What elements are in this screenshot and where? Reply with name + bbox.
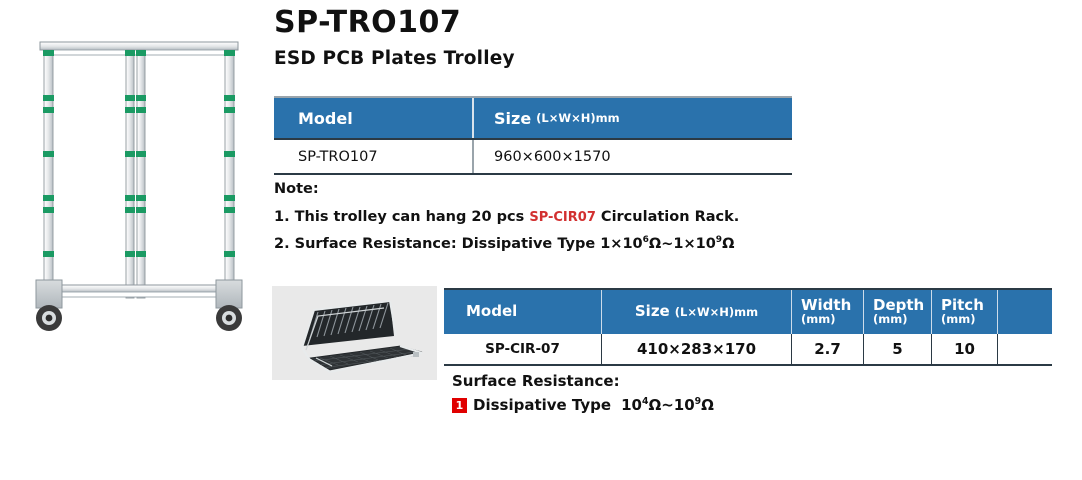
rack-column-header-depth-label: Depth: [873, 298, 931, 314]
surface-resistance-value: 104Ω~109Ω: [621, 398, 714, 413]
rack-table-header-row: Model Size (L×W×H)mm Width (mm) Depth (m…: [444, 290, 1052, 334]
trolley-drawing-svg: [22, 22, 258, 342]
note-1-suffix: Circulation Rack.: [596, 209, 739, 225]
column-header-size-unit: (L×W×H)mm: [536, 111, 619, 125]
note-2-tail: Ω: [722, 236, 734, 252]
rack-column-header-pitch-unit: (mm): [941, 313, 997, 326]
surface-resistance-row: 1 Dissipative Type 104Ω~109Ω: [452, 398, 872, 413]
column-header-size-label: Size: [494, 109, 531, 128]
spec-table: Model Size (L×W×H)mm SP-TRO107 960×600×1…: [274, 96, 792, 175]
surface-resistance-value-prefix: 10: [621, 396, 642, 414]
rack-spec-table: Model Size (L×W×H)mm Width (mm) Depth (m…: [444, 288, 1052, 366]
rack-table-bottom-rule: [444, 364, 1052, 366]
rack-cell-pitch: 10: [932, 334, 998, 364]
rack-column-header-width-unit: (mm): [801, 313, 863, 326]
caster-right: [216, 305, 242, 331]
rack-cell-model: SP-CIR-07: [444, 334, 602, 364]
surface-resistance-value-tail: Ω: [701, 396, 714, 414]
rack-column-header-depth: Depth (mm): [864, 290, 932, 334]
trolley-line-drawing: [22, 22, 258, 342]
rack-column-header-model: Model: [444, 290, 602, 334]
surface-resistance-label: Dissipative Type: [473, 398, 611, 413]
rack-column-header-width: Width (mm): [792, 290, 864, 334]
rack-photo-svg: [272, 286, 437, 380]
rack-column-header-blank: [998, 290, 1052, 334]
rack-column-header-size-line: Size (L×W×H)mm: [635, 304, 758, 320]
surface-resistance-block: Surface Resistance: 1 Dissipative Type 1…: [452, 374, 872, 413]
note-1-product-code: SP-CIR07: [529, 210, 596, 225]
surface-resistance-value-mid: Ω~10: [648, 396, 694, 414]
rack-cell-blank: [998, 334, 1052, 364]
cell-model: SP-TRO107: [274, 140, 474, 173]
note-item-2: 2. Surface Resistance: Dissipative Type …: [274, 237, 914, 252]
rack-cell-depth: 5: [864, 334, 932, 364]
note-2-mid: Ω~1×10: [649, 236, 716, 252]
rack-column-header-depth-unit: (mm): [873, 313, 931, 326]
column-header-model: Model: [274, 98, 474, 138]
spec-content: SP-TRO107 ESD PCB Plates Trolley Model S…: [272, 0, 1082, 480]
surface-resistance-title: Surface Resistance:: [452, 374, 872, 389]
rack-column-header-size-label: Size: [635, 304, 670, 320]
rack-cell-width: 2.7: [792, 334, 864, 364]
rack-column-header-size-unit: (L×W×H)mm: [675, 305, 758, 319]
note-2-text: 2. Surface Resistance: Dissipative Type …: [274, 236, 643, 252]
table-header-row: Model Size (L×W×H)mm: [274, 98, 792, 138]
rack-column-header-model-label: Model: [466, 304, 601, 320]
note-1-prefix: 1. This trolley can hang 20 pcs: [274, 209, 529, 225]
note-item-1: 1. This trolley can hang 20 pcs SP-CIR07…: [274, 210, 914, 225]
rack-column-header-pitch-label: Pitch: [941, 298, 997, 314]
column-header-model-label: Model: [298, 109, 353, 128]
rack-table-row: SP-CIR-07 410×283×170 2.7 5 10: [444, 334, 1052, 364]
status-badge: 1: [452, 398, 467, 413]
page-title: SP-TRO107: [274, 8, 461, 38]
table-row: SP-TRO107 960×600×1570: [274, 140, 792, 173]
rack-column-header-size: Size (L×W×H)mm: [602, 290, 792, 334]
product-subtitle: ESD PCB Plates Trolley: [274, 50, 515, 69]
notes-block: Note: 1. This trolley can hang 20 pcs SP…: [274, 182, 914, 265]
notes-title: Note:: [274, 182, 914, 197]
rack-column-header-width-label: Width: [801, 298, 863, 314]
column-header-size: Size (L×W×H)mm: [474, 98, 792, 138]
table-bottom-rule: [274, 173, 792, 175]
caster-left: [36, 305, 62, 331]
cell-size: 960×600×1570: [474, 140, 792, 173]
rack-cell-size: 410×283×170: [602, 334, 792, 364]
circulation-rack-photo: [272, 286, 437, 380]
rack-column-header-pitch: Pitch (mm): [932, 290, 998, 334]
